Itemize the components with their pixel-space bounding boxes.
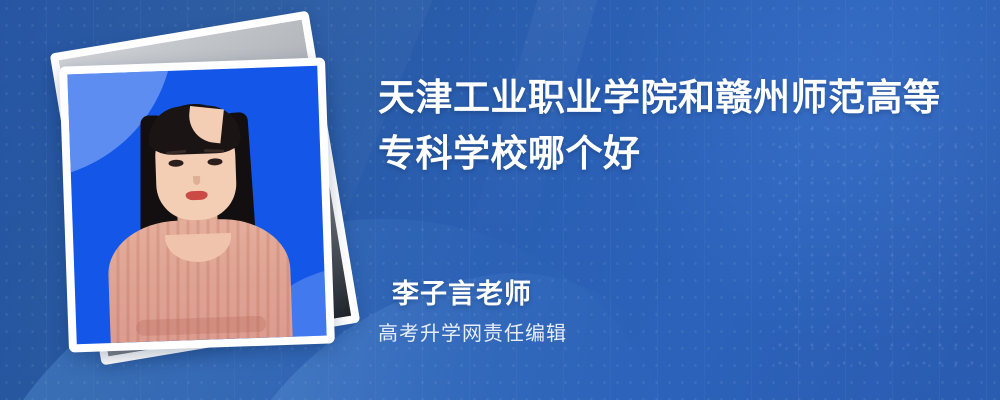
page-title: 天津工业职业学院和赣州师范高等专科学校哪个好 — [378, 70, 968, 182]
author-role: 高考升学网责任编辑 — [378, 317, 567, 346]
lips — [186, 191, 208, 201]
eyebrow-right — [204, 149, 224, 153]
avatar — [67, 66, 326, 345]
text-block: 天津工业职业学院和赣州师范高等专科学校哪个好 李子言老师 高考升学网责任编辑 — [378, 0, 978, 400]
promo-banner: 天津工业职业学院和赣州师范高等专科学校哪个好 李子言老师 高考升学网责任编辑 — [0, 0, 1000, 400]
photo-stack — [48, 28, 348, 368]
author-name: 李子言老师 — [392, 272, 532, 311]
photo-card-front — [59, 57, 335, 352]
portrait-illustration — [93, 85, 302, 344]
